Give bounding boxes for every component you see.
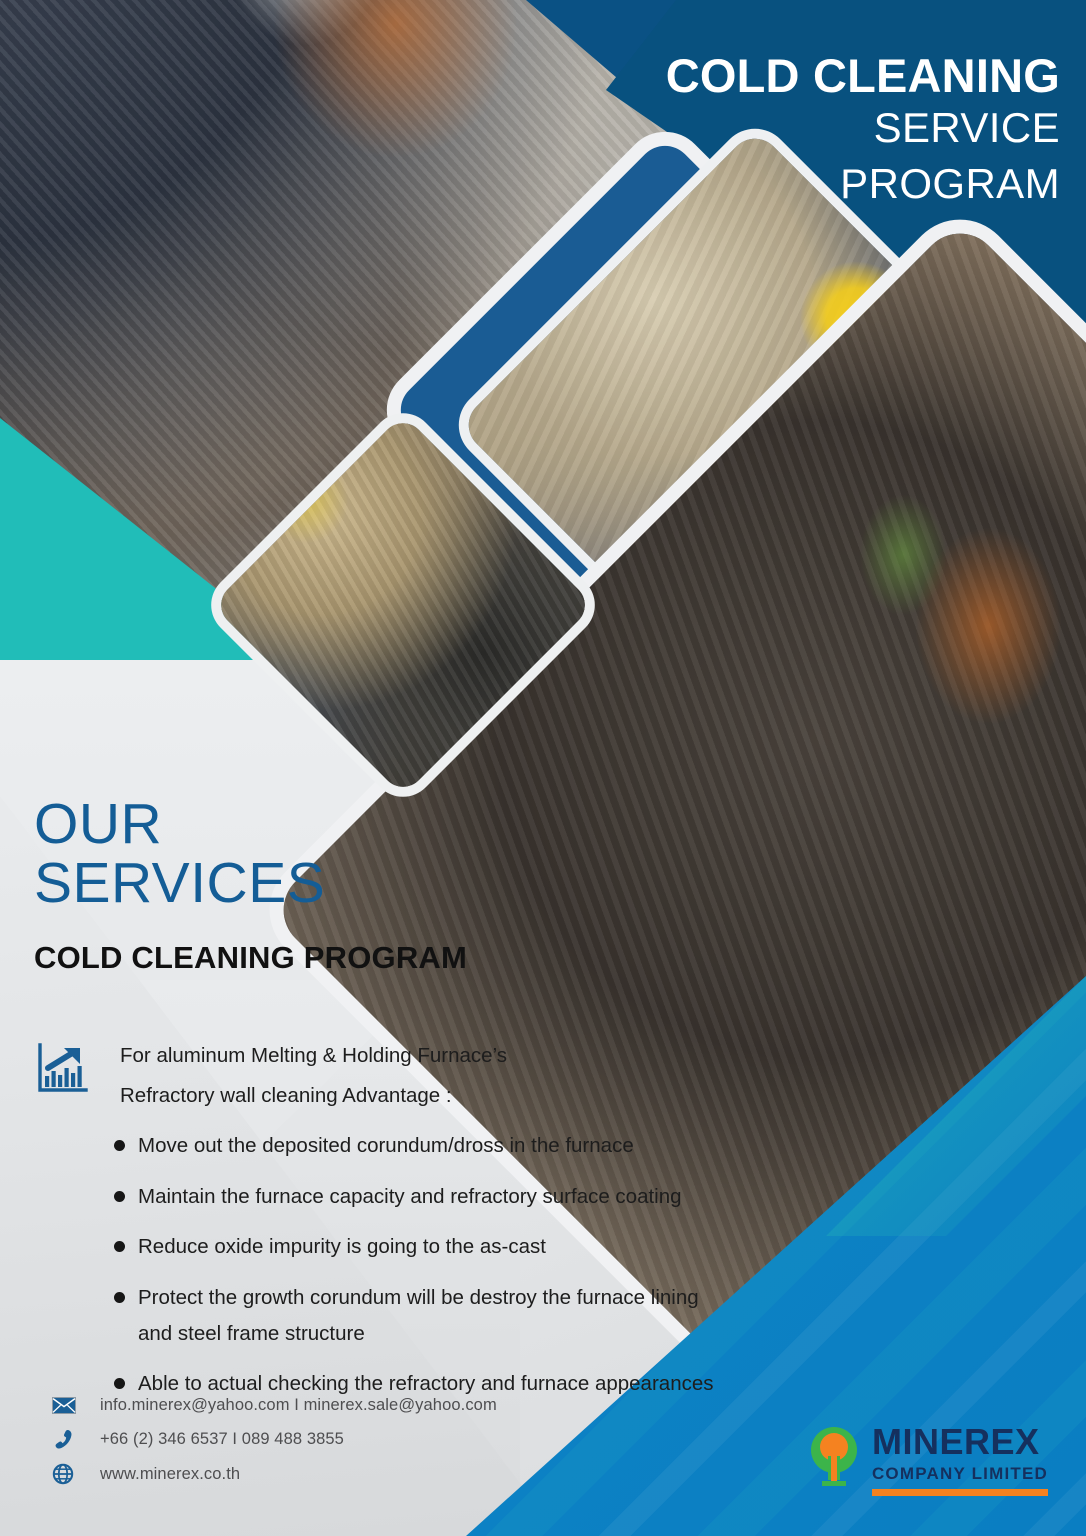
globe-icon <box>52 1463 86 1485</box>
intro-line-2: Refractory wall cleaning Advantage : <box>120 1076 824 1116</box>
lightbulb-in-circle-logo-icon <box>804 1424 866 1490</box>
header-title-line1: COLD CLEANING <box>666 52 1060 100</box>
poster-header-title: COLD CLEANING SERVICE PROGRAM <box>666 52 1060 211</box>
minerex-logo: MINEREX COMPANY LIMITED <box>804 1424 1048 1496</box>
list-item: Protect the growth corundum will be dest… <box>110 1280 824 1351</box>
list-item: Reduce oxide impurity is going to the as… <box>110 1229 824 1265</box>
contact-phone-row[interactable]: +66 (2) 346 6537 I 089 488 3855 <box>52 1428 497 1450</box>
header-title-line3: PROGRAM <box>666 156 1060 211</box>
phone-icon <box>52 1428 86 1450</box>
logo-orange-rule <box>872 1489 1048 1496</box>
header-title-line2: SERVICE <box>666 100 1060 155</box>
content-block: For aluminum Melting & Holding Furnace’s… <box>34 1036 824 1417</box>
bar-chart-growth-icon <box>34 1036 102 1101</box>
contact-email-row[interactable]: info.minerex@yahoo.com I minerex.sale@ya… <box>52 1396 497 1415</box>
services-heading-group: OUR SERVICES COLD CLEANING PROGRAM <box>34 795 467 976</box>
contact-website-text: www.minerex.co.th <box>86 1465 240 1484</box>
contact-phone-text: +66 (2) 346 6537 I 089 488 3855 <box>86 1430 344 1449</box>
advantages-list: Move out the deposited corundum/dross in… <box>110 1128 824 1402</box>
envelope-icon <box>52 1397 86 1414</box>
services-heading-line2: SERVICES <box>34 854 467 913</box>
list-item: Maintain the furnace capacity and refrac… <box>110 1179 824 1215</box>
services-heading-line1: OUR <box>34 795 467 854</box>
list-item: Move out the deposited corundum/dross in… <box>110 1128 824 1164</box>
contact-footer: info.minerex@yahoo.com I minerex.sale@ya… <box>52 1396 497 1498</box>
logo-company-subtitle: COMPANY LIMITED <box>872 1464 1048 1484</box>
contact-email-text: info.minerex@yahoo.com I minerex.sale@ya… <box>86 1396 497 1415</box>
poster-page: COLD CLEANING SERVICE PROGRAM OUR SERVIC… <box>0 0 1086 1536</box>
services-subheading: COLD CLEANING PROGRAM <box>34 940 467 976</box>
intro-line-1: For aluminum Melting & Holding Furnace’s <box>120 1036 824 1076</box>
contact-website-row[interactable]: www.minerex.co.th <box>52 1463 497 1485</box>
logo-company-name: MINEREX <box>872 1424 1048 1460</box>
